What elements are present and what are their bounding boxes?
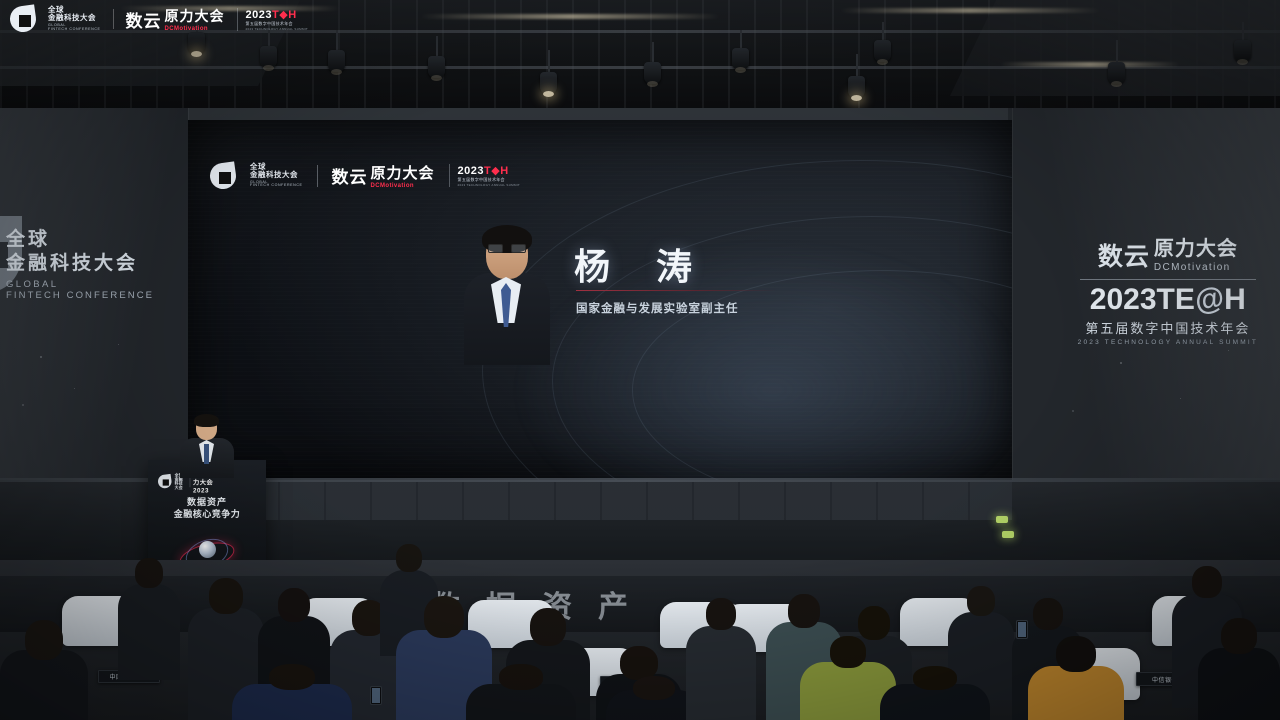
lamp-stem (436, 36, 438, 56)
watermark-divider (113, 9, 114, 29)
right-wall-en: DCMotivation (1154, 262, 1238, 273)
stage-lamp (428, 56, 445, 78)
lamp-stem (336, 30, 338, 50)
gfc-logo-mark-icon (10, 6, 36, 32)
gfc-logo-mark-icon (158, 475, 172, 489)
wall-star (118, 344, 119, 345)
audience-member (1028, 636, 1124, 720)
wall-star (1072, 410, 1074, 412)
audience-member (880, 666, 990, 720)
screen-speaker-title: 国家金融与发展实验室副主任 (576, 300, 739, 316)
screen-gfc-text: 全球 金融科技大会 GLOBAL FINTECH CONFERENCE (250, 163, 303, 188)
lamp-stem (882, 22, 884, 40)
lamp-stem (548, 50, 550, 72)
audience-member (466, 664, 576, 720)
lamp-stem (856, 54, 858, 76)
screen-gfc-cn2: 金融科技大会 (250, 171, 303, 179)
stage-lamp (188, 32, 205, 54)
screen-logo-divider (317, 165, 318, 187)
lamp-stem (1242, 22, 1244, 40)
watermark-shuyun: 数云 (126, 7, 162, 32)
watermark-tech-title: 2023T◆H (246, 8, 309, 21)
screen-tech-en: 2023 TECHNOLOGY ANNUAL SUMMIT (458, 183, 521, 187)
gfc-logo-mark-icon (210, 163, 236, 189)
podium-title-line1: 数据资产 (148, 496, 266, 508)
screen-shuyun: 数云 (332, 163, 368, 188)
right-wall-signage: 数云 原力大会 DCMotivation 2023TE@H 第五届数字中国技术年… (1078, 232, 1258, 346)
screen-speaker-name: 杨 涛 (574, 238, 710, 290)
screen-speaker-portrait (460, 225, 552, 365)
right-wall-divider (1080, 279, 1256, 280)
stage-led-screen: 全球 金融科技大会 GLOBAL FINTECH CONFERENCE 数云 原… (188, 120, 1012, 480)
lamp-stem (652, 42, 654, 62)
audience-member (118, 558, 180, 678)
audience-phone (370, 686, 382, 705)
right-wall-logo-row: 数云 原力大会 DCMotivation (1078, 232, 1258, 273)
stage-lamp (848, 76, 865, 98)
left-wall-cn-line1: 全球 (6, 228, 154, 252)
audience-phone (1016, 620, 1028, 639)
screen-gfc-en2: FINTECH CONFERENCE (250, 184, 303, 188)
stage-lamp (1234, 40, 1251, 62)
watermark-gfc-cn2: 金融科技大会 (48, 14, 101, 22)
right-wall-yuanli-group: 原力大会 DCMotivation (1154, 232, 1238, 273)
ceiling-light-slot (1000, 62, 1180, 67)
screen-shuyun-block: 数云 原力大会 DCMotivation (332, 162, 435, 189)
watermark-gfc-text: 全球 金融科技大会 GLOBAL FINTECH CONFERENCE (48, 6, 101, 31)
watermark-tech-year: 2023 (246, 9, 272, 21)
watermark-yuanli-group: 原力大会 DCMotivation (165, 6, 225, 32)
ceiling-light-slot (840, 8, 1100, 13)
screen-tech-title: 2023T◆H (458, 164, 521, 177)
wall-star (1228, 350, 1229, 351)
conference-hall-photo: 全球 金融科技大会 GLOBAL FINTECH CONFERENCE 数云 原… (0, 0, 1280, 720)
stage-lamp (874, 40, 891, 62)
podium-title-line2: 金融核心竞争力 (148, 508, 266, 520)
screen-logo-row: 全球 金融科技大会 GLOBAL FINTECH CONFERENCE 数云 原… (210, 162, 520, 189)
tech-accent-icon: T◆H (484, 165, 509, 177)
left-wall-en-line1: GLOBAL (6, 279, 154, 290)
stage-indicator-light (1002, 531, 1014, 538)
wall-star (22, 404, 24, 406)
left-wall-signage: 全球 金融科技大会 GLOBAL FINTECH CONFERENCE (6, 228, 154, 301)
screen-yuanli: 原力大会 (371, 165, 435, 182)
wall-seam (1012, 108, 1013, 510)
right-wall-yuanli: 原力大会 (1154, 238, 1238, 260)
right-wall-cn-sub: 第五届数字中国技术年会 (1078, 318, 1258, 337)
right-wall-tech-h: H (1224, 283, 1246, 316)
stage-lamp (644, 62, 661, 84)
stage-indicator-light (996, 516, 1008, 523)
wall-star (1180, 398, 1181, 399)
right-wall-shuyun: 数云 (1098, 237, 1150, 273)
wall-star (1120, 362, 1122, 364)
screen-tech-block: 2023T◆H 第五届数字中国技术年会 2023 TECHNOLOGY ANNU… (449, 164, 521, 187)
left-wall-cn-line2: 金融科技大会 (6, 252, 154, 276)
right-wall-en-sub: 2023 TECHNOLOGY ANNUAL SUMMIT (1078, 339, 1258, 346)
watermark-yuanli: 原力大会 (165, 8, 225, 24)
wall-star (74, 388, 75, 389)
ceiling-light-slot (420, 14, 720, 19)
audience-member (1198, 618, 1280, 720)
screen-yuanli-group: 原力大会 DCMotivation (371, 162, 435, 189)
audience-member (0, 620, 88, 720)
speaker-at-podium (178, 414, 236, 476)
watermark-gfc-en2: FINTECH CONFERENCE (48, 28, 101, 32)
stage-lamp (260, 46, 277, 68)
tech-accent-icon: T◆H (272, 9, 297, 21)
podium-title: 数据资产 金融核心竞争力 (148, 496, 266, 520)
right-wall-tech-line: 2023TE@H (1078, 285, 1258, 315)
right-wall-year: 2023 (1090, 283, 1157, 316)
stage-lamp (540, 72, 557, 94)
watermark-shuyun-block: 数云 原力大会 DCMotivation (126, 6, 225, 32)
broadcast-watermark: 全球 金融科技大会 GLOBAL FINTECH CONFERENCE 数云 原… (10, 6, 308, 32)
at-symbol-icon: @ (1193, 283, 1227, 318)
watermark-dcmotivation: DCMotivation (165, 26, 225, 32)
screen-dcmotivation: DCMotivation (371, 183, 435, 189)
watermark-tech-en: 2023 TECHNOLOGY ANNUAL SUMMIT (246, 27, 309, 31)
stage-lamp (732, 48, 749, 70)
eyeglasses-icon (488, 244, 526, 253)
stage-lamp (1108, 62, 1125, 84)
audience-member (686, 598, 756, 720)
back-wall-left-face (0, 108, 188, 510)
audience-member (232, 664, 352, 720)
stage-skirt-panels (188, 482, 1012, 520)
lamp-stem (740, 30, 742, 48)
screen-name-underline (576, 290, 776, 291)
stage-lamp (328, 50, 345, 72)
watermark-tech-block: 2023T◆H 第五届数字中国技术年会 2023 TECHNOLOGY ANNU… (237, 8, 309, 31)
right-wall-tech-te: TE (1157, 283, 1195, 316)
left-wall-en-line2: FINTECH CONFERENCE (6, 290, 154, 301)
screen-tech-year: 2023 (458, 165, 484, 177)
wall-star (40, 356, 42, 358)
lamp-stem (1116, 40, 1118, 62)
